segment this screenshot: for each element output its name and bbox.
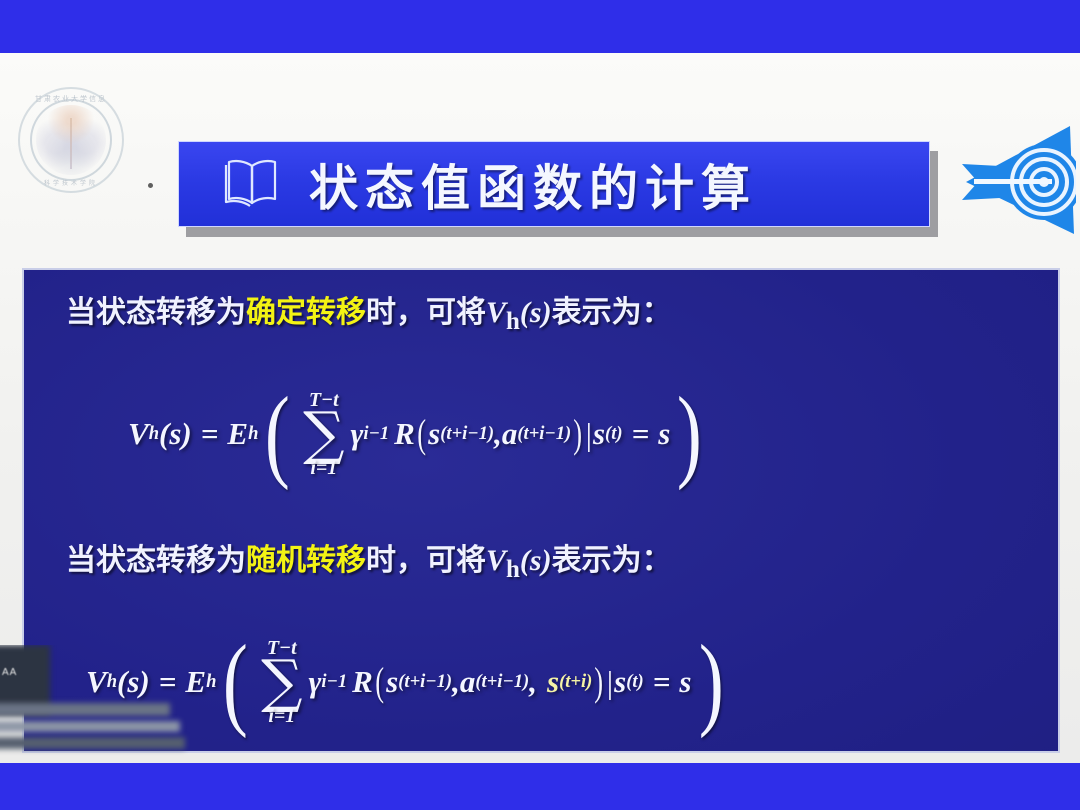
f2-cond-equals: = (653, 664, 671, 700)
f2-action-exponent: (t+i−1) (475, 671, 529, 693)
lead1-suffix: 表示为： (552, 296, 672, 329)
f1-lhs-sub: h (149, 423, 159, 445)
lead1-middle: 时，可将 (366, 296, 486, 329)
f1-lhs-V: V (128, 416, 149, 452)
formula-deterministic: Vh(s) = Eh ( T−t ∑ i=1 γi−1 R(s(t+i−1),a… (128, 390, 709, 478)
seal-bottom-arc-text: 科学技术学院 (16, 178, 126, 187)
f2-conditional-bar: | (607, 664, 613, 701)
f1-gamma: γ (351, 416, 364, 452)
f1-cond-equals: = (632, 416, 650, 452)
artifact-blob-2 (0, 703, 170, 716)
f1-comma-1: , (494, 416, 502, 452)
lead1-variable-arg: (s) (520, 296, 552, 329)
f2-cond-s: s (614, 664, 626, 700)
f1-action-exponent: (t+i−1) (517, 423, 571, 445)
f2-gamma: γ (309, 664, 322, 700)
artifact-tag-text: AA (2, 667, 17, 678)
lead2-highlight: 随机转移 (246, 544, 366, 577)
f1-conditional-bar: | (586, 416, 592, 453)
f2-action-a: a (460, 664, 476, 700)
video-top-band (0, 0, 1080, 53)
f2-expectation-sub: h (206, 671, 216, 693)
lead2-variable-sub: h (506, 556, 520, 583)
artifact-blob-3 (0, 721, 180, 732)
page-title: 状态值函数的计算 (309, 149, 757, 220)
f1-sum-sign: ∑ (303, 404, 344, 462)
f1-expectation-E: E (227, 416, 248, 452)
f1-reward-R: R (394, 416, 415, 452)
f1-reward-close-paren: ) (574, 418, 583, 450)
f2-next-state-exponent: (t+i) (559, 671, 592, 693)
f2-reward-open-paren: ( (375, 666, 384, 698)
lead1-variable: V (486, 296, 506, 329)
f1-cond-value: s (658, 416, 670, 452)
video-overlay-artifact: AA (0, 645, 190, 763)
open-book-icon (221, 155, 283, 214)
lead2-prefix: 当状态转移为 (66, 544, 246, 577)
f1-open-paren: ( (265, 402, 290, 466)
lead1-highlight: 确定转移 (246, 296, 366, 329)
f2-reward-R: R (352, 664, 373, 700)
lead-line-deterministic: 当状态转移为确定转移时，可将Vh(s)表示为： (66, 287, 672, 336)
f2-state-exponent: (t+i−1) (398, 671, 452, 693)
lead1-prefix: 当状态转移为 (66, 296, 246, 329)
lead2-variable-arg: (s) (520, 544, 552, 577)
slide-stage: 甘肃农业大学信息 科学技术学院 状态值函数的计算 (0, 0, 1080, 810)
f2-comma-2: , (529, 664, 537, 700)
f2-close-paren: ) (698, 650, 723, 714)
lead2-variable: V (486, 544, 506, 577)
f2-reward-close-paren: ) (595, 666, 604, 698)
target-arrow-icon (952, 108, 1076, 244)
seal-stem (70, 118, 72, 169)
f2-open-paren: ( (223, 650, 248, 714)
f2-state-s: s (386, 664, 398, 700)
lead2-middle: 时，可将 (366, 544, 486, 577)
f2-next-state-s: s (547, 664, 559, 700)
f1-lhs-arg: (s) (159, 416, 192, 452)
f2-gamma-exponent: i−1 (321, 671, 347, 693)
f1-gamma-exponent: i−1 (363, 423, 389, 445)
f2-cond-value: s (679, 664, 691, 700)
f1-cond-exponent: (t) (605, 423, 623, 445)
f1-reward-open-paren: ( (417, 418, 426, 450)
lead-line-stochastic: 当状态转移为随机转移时，可将Vh(s)表示为： (66, 535, 672, 584)
f1-state-s: s (428, 416, 440, 452)
f1-close-paren: ) (677, 402, 702, 466)
video-bottom-band (0, 763, 1080, 810)
f2-comma-1: , (452, 664, 460, 700)
f1-equals: = (201, 416, 219, 452)
f1-cond-s: s (593, 416, 605, 452)
f1-summation: T−t ∑ i=1 (303, 390, 344, 478)
lead2-suffix: 表示为： (552, 544, 672, 577)
seal-top-arc-text: 甘肃农业大学信息 (16, 94, 126, 104)
seal-bullet-dot (148, 183, 153, 188)
f2-sum-lower-limit: i=1 (268, 706, 295, 726)
f1-state-exponent: (t+i−1) (440, 423, 494, 445)
f2-cond-exponent: (t) (626, 671, 644, 693)
university-seal-watermark: 甘肃农业大学信息 科学技术学院 (16, 85, 126, 195)
artifact-blob-4 (0, 737, 185, 749)
f1-sum-lower-limit: i=1 (310, 458, 337, 478)
slide-title-bar: 状态值函数的计算 (178, 141, 930, 227)
f1-action-a: a (502, 416, 518, 452)
f1-expectation-sub: h (248, 423, 258, 445)
f2-summation: T−t ∑ i=1 (261, 638, 302, 726)
f2-sum-sign: ∑ (261, 652, 302, 710)
lead1-variable-sub: h (506, 308, 520, 335)
